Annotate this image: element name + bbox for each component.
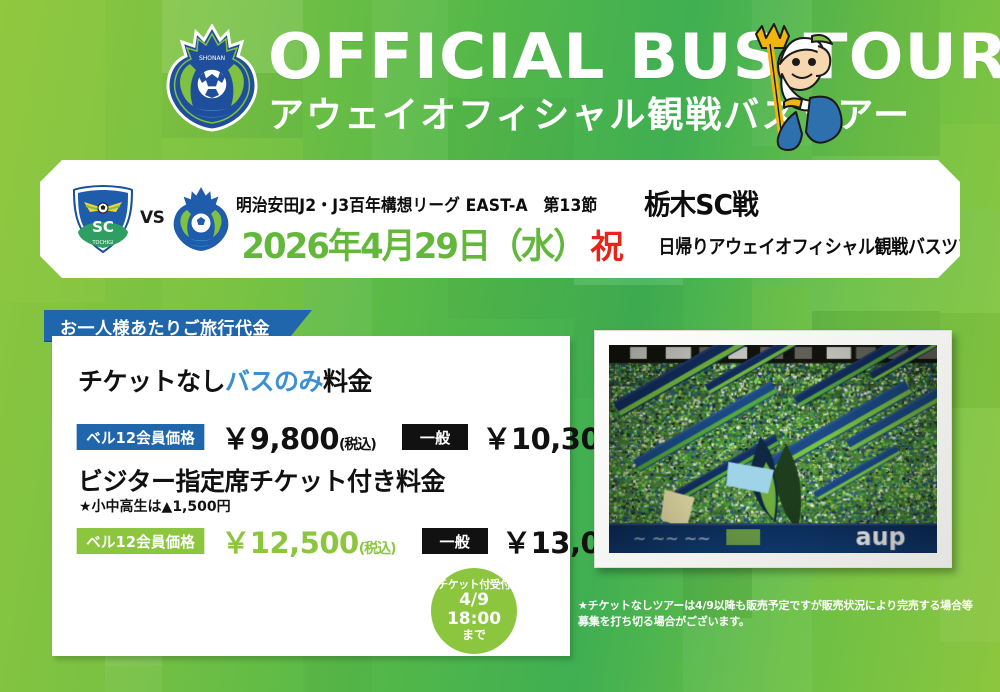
svg-text:SHONAN: SHONAN [199,55,225,62]
member-price-value-2: ￥12,500 [221,526,358,560]
general-price-chip-1: 一般 [402,424,469,450]
price-section-title-2: ビジター指定席チケット付き料金 [78,462,445,498]
versus-label: VS [140,208,164,228]
section1-title-part2: 料金 [323,367,372,396]
price-row-2: ベル12会員価格 ￥12,500(税込) 一般 ￥13,000(税込) [74,520,676,562]
svg-text:TOCHIGI: TOCHIGI [91,240,113,246]
member-price-tax-1: (税込) [339,437,376,453]
holiday-marker: 祝 [590,227,622,266]
match-banner: SC TOCHIGI VS 明治安田J2・J3百年構想リーグ EAST-A 第1… [40,160,960,278]
price-section-title-1: チケットなしバスのみ料金 [78,362,372,398]
poster-header: SHONAN OFFICIAL BUS TOUR アウェイオフィシャル観戦バスツ… [0,0,1000,152]
opponent-name: 栃木SC戦 [644,183,758,223]
deadline-suffix: まで [462,629,486,642]
poster-canvas: SHONAN OFFICIAL BUS TOUR アウェイオフィシャル観戦バスツ… [0,0,1000,692]
member-price-value-1: ￥9,800 [221,422,339,456]
pricing-tab-label: お一人様あたりご旅行代金 [60,314,270,339]
sales-note: ★チケットなしツアーは4/9以降も販売予定ですが販売状況により完売する場合等募集… [578,598,978,630]
tochigi-sc-crest-icon: SC TOCHIGI [70,184,136,254]
king-bell-mascot-icon [726,12,856,152]
section1-title-accent: バスのみ [225,367,323,396]
shonan-bellmare-crest-icon-small [168,184,234,254]
svg-text:SC: SC [92,218,114,236]
member-price-chip-2: ベル12会員価格 [77,528,205,554]
match-date: 2026年4月29日（水） [241,218,585,269]
price-row-1: ベル12会員価格 ￥9,800(税込) 一般 ￥10,300(税込) [74,416,657,458]
member-price-1: ￥9,800(税込) [221,416,376,458]
supporters-crowd-photo [609,345,937,553]
student-discount-note: ★小中高生は▲1,500円 [79,496,231,516]
member-price-tax-2: (税込) [359,541,396,557]
shonan-bellmare-crest-icon: SHONAN [160,24,264,132]
trip-type-label: 日帰りアウェイオフィシャル観戦バスツアー [659,232,991,259]
general-price-chip-2: 一般 [422,528,489,554]
photo-frame [594,330,952,568]
league-name: 明治安田J2・J3百年構想リーグ EAST-A 第13節 [236,191,597,216]
member-price-chip-1: ベル12会員価格 [77,424,205,450]
match-date-line: 2026年4月29日（水）祝日帰りアウェイオフィシャル観戦バスツアー [236,218,1000,269]
league-info-line: 明治安田J2・J3百年構想リーグ EAST-A 第13節栃木SC戦 [236,180,761,220]
deadline-time: 18:00 [447,610,501,629]
deadline-date: 4/9 [459,591,489,610]
page-title: OFFICIAL BUS TOUR [268,26,1000,88]
section2-title-part1: ビジター指定席チケット付き料金 [78,467,445,496]
section1-title-part1: チケットなし [78,367,225,396]
member-price-2: ￥12,500(税込) [221,520,395,562]
ticket-deadline-badge: チケット付受付 4/9 18:00 まで [431,568,517,654]
